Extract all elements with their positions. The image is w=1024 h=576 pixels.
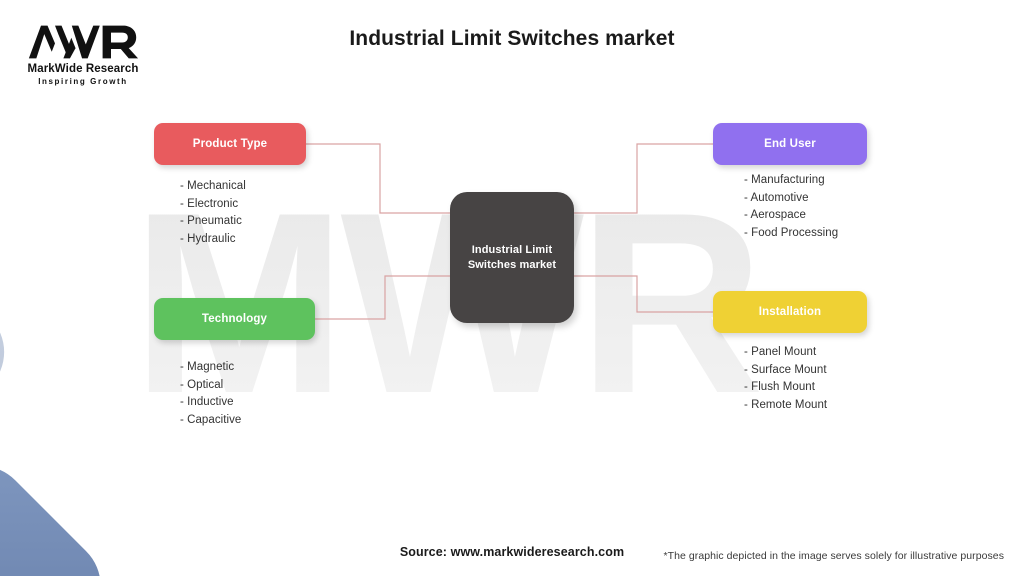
branch-label-product-type: Product Type bbox=[193, 138, 267, 150]
list-item: - Electronic bbox=[180, 196, 246, 214]
branch-label-installation: Installation bbox=[759, 306, 822, 318]
list-item: - Capacitive bbox=[180, 412, 241, 430]
deco-shape-light bbox=[0, 200, 24, 504]
branch-list-end-user: - Manufacturing - Automotive - Aerospace… bbox=[744, 172, 838, 242]
branch-list-product-type: - Mechanical - Electronic - Pneumatic - … bbox=[180, 178, 246, 248]
slide-canvas: MWR MarkWide Research Inspiring Growth I… bbox=[0, 0, 1024, 576]
list-item: - Food Processing bbox=[744, 225, 838, 243]
logo-company-name: MarkWide Research bbox=[18, 63, 148, 76]
list-item: - Pneumatic bbox=[180, 213, 246, 231]
page-title: Industrial Limit Switches market bbox=[0, 27, 1024, 51]
branch-box-technology[interactable]: Technology bbox=[154, 298, 315, 340]
branch-list-technology: - Magnetic - Optical - Inductive - Capac… bbox=[180, 359, 241, 429]
logo-tagline: Inspiring Growth bbox=[18, 77, 148, 87]
branch-box-end-user[interactable]: End User bbox=[713, 123, 867, 165]
list-item: - Magnetic bbox=[180, 359, 241, 377]
branch-label-end-user: End User bbox=[764, 138, 816, 150]
list-item: - Hydraulic bbox=[180, 231, 246, 249]
center-node-line1: Industrial Limit bbox=[472, 244, 552, 256]
center-node-line2: Switches market bbox=[468, 259, 556, 271]
list-item: - Manufacturing bbox=[744, 172, 838, 190]
list-item: - Optical bbox=[180, 377, 241, 395]
disclaimer-note: *The graphic depicted in the image serve… bbox=[664, 550, 1004, 562]
list-item: - Automotive bbox=[744, 190, 838, 208]
list-item: - Mechanical bbox=[180, 178, 246, 196]
branch-box-installation[interactable]: Installation bbox=[713, 291, 867, 333]
branch-box-product-type[interactable]: Product Type bbox=[154, 123, 306, 165]
list-item: - Remote Mount bbox=[744, 397, 827, 415]
list-item: - Surface Mount bbox=[744, 362, 827, 380]
list-item: - Inductive bbox=[180, 394, 241, 412]
center-node-label: Industrial Limit Switches market bbox=[460, 243, 564, 273]
branch-list-installation: - Panel Mount - Surface Mount - Flush Mo… bbox=[744, 344, 827, 414]
list-item: - Flush Mount bbox=[744, 379, 827, 397]
branch-label-technology: Technology bbox=[202, 313, 267, 325]
center-node[interactable]: Industrial Limit Switches market bbox=[450, 192, 574, 323]
list-item: - Panel Mount bbox=[744, 344, 827, 362]
list-item: - Aerospace bbox=[744, 207, 838, 225]
